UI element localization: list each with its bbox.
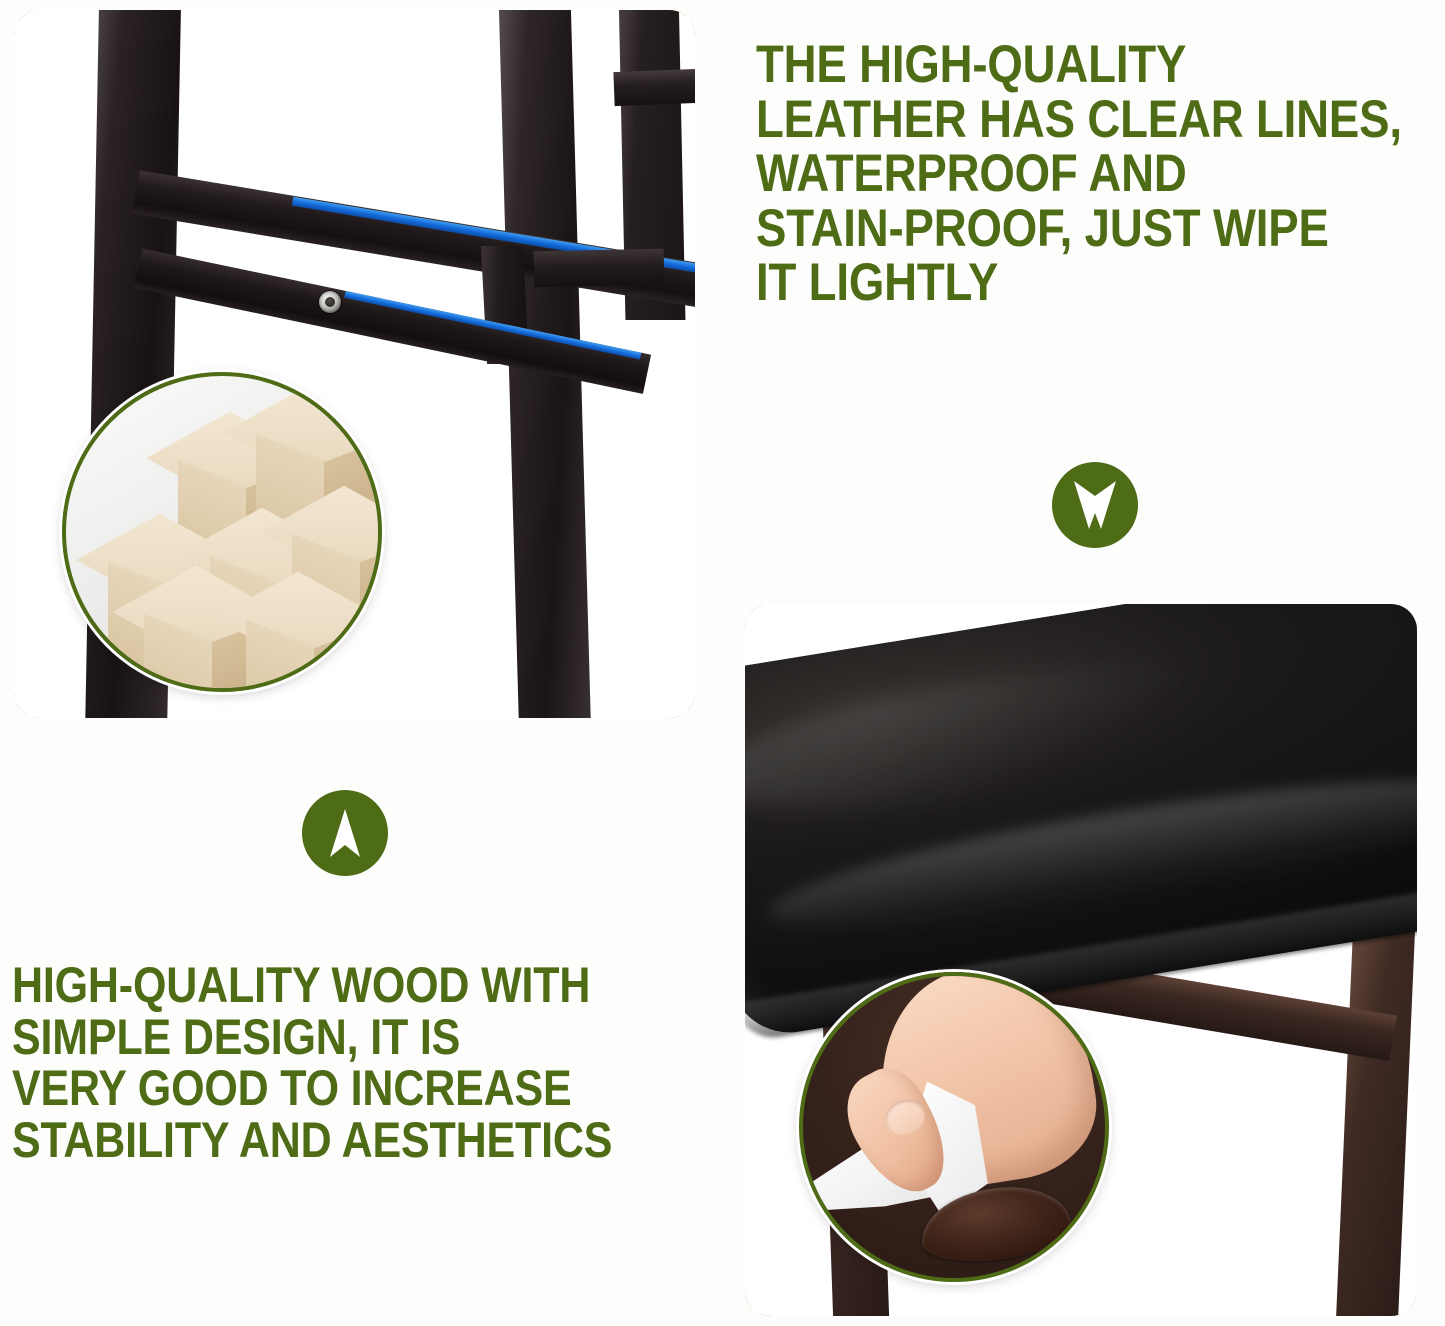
chair-frame-photo-panel xyxy=(14,10,695,718)
screw-fastener-icon xyxy=(319,291,341,313)
arrow-up-badge xyxy=(302,790,388,876)
wood-blocks-inset xyxy=(62,372,382,692)
arrow-up-icon xyxy=(322,807,368,859)
leather-seat-photo-clip xyxy=(745,604,1417,1316)
chair-frame-photo xyxy=(14,10,695,718)
chair-rail-middle xyxy=(534,249,665,288)
leather-seat-cushion xyxy=(745,604,1417,1041)
chair-frame-photo-clip xyxy=(14,10,695,718)
headline-leather: THE HIGH-QUALITY LEATHER HAS CLEAR LINES… xyxy=(756,38,1444,311)
wipe-spill-inset xyxy=(799,972,1109,1282)
leather-seat-photo-panel xyxy=(745,604,1417,1316)
leather-seat-photo xyxy=(745,604,1417,1316)
arrow-down-badge xyxy=(1052,462,1138,548)
arrow-down-icon xyxy=(1072,479,1118,531)
seat-leg-right xyxy=(1335,893,1416,1316)
chair-rail-upper-right xyxy=(613,68,695,106)
infographic-canvas: THE HIGH-QUALITY LEATHER HAS CLEAR LINES… xyxy=(0,0,1445,1326)
headline-wood: HIGH-QUALITY WOOD WITH SIMPLE DESIGN, IT… xyxy=(12,960,700,1166)
